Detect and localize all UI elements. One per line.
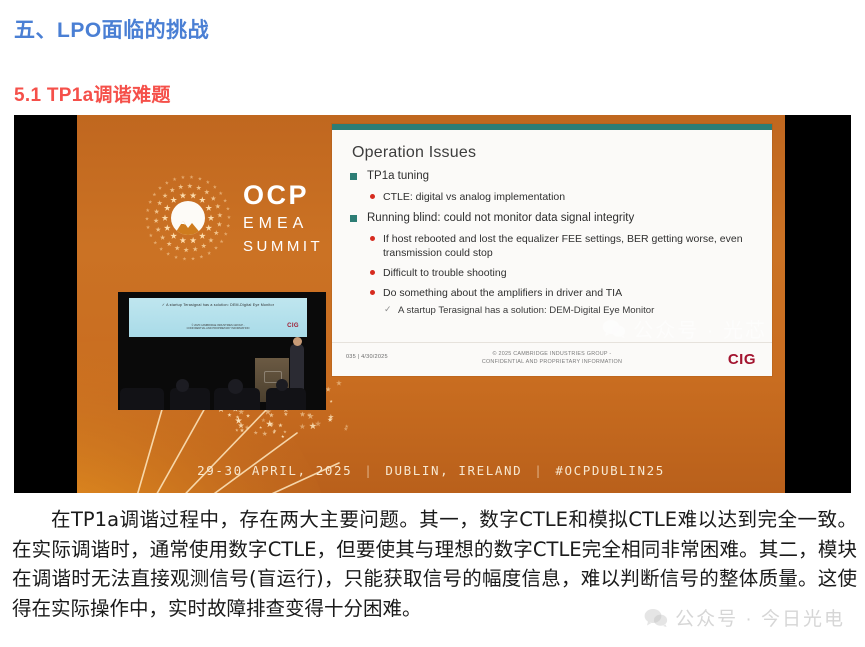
bullet-level2: Difficult to trouble shooting	[368, 266, 758, 281]
banner-separator: |	[534, 463, 543, 478]
banner-separator: |	[364, 463, 373, 478]
ocp-line2: EMEA	[243, 216, 323, 232]
projection-footer: © 2025 CAMBRIDGE INDUSTRIES GROUP - CONF…	[129, 324, 307, 330]
bullet-level3: A startup Terasignal has a solution: DEM…	[384, 304, 758, 317]
article-page: 五、LPO面临的挑战 5.1 TP1a调谐难题	[0, 0, 865, 647]
card-title: Operation Issues	[352, 144, 772, 162]
audience-head	[228, 379, 243, 394]
page-title: 五、LPO面临的挑战	[14, 14, 209, 44]
banner-hashtag: #OCPDUBLIN25	[555, 463, 665, 478]
card-footer: 035 | 4/30/2025 © 2025 CAMBRIDGE INDUSTR…	[332, 342, 772, 376]
audience-head	[276, 379, 288, 391]
projection-cig-logo: CIG	[287, 323, 299, 329]
bullet-level1: TP1a tuning	[350, 169, 758, 185]
audience-head	[176, 379, 189, 392]
bullet-level2: CTLE: digital vs analog implementation	[368, 190, 758, 205]
conference-photo: ✓ A startup Terasignal has a solution: D…	[118, 292, 326, 410]
bullet-level1: Running blind: could not monitor data si…	[350, 211, 758, 227]
audience-seat	[120, 388, 164, 410]
ocp-emblem-icon	[147, 177, 229, 259]
body-paragraph: 在TP1a调谐过程中，存在两大主要问题。其一，数字CTLE和模拟CTLE难以达到…	[12, 505, 857, 624]
subsection-title: 5.1 TP1a调谐难题	[14, 80, 171, 107]
ocp-logo: OCP EMEA SUMMIT	[147, 177, 323, 259]
ocp-wordmark: OCP EMEA SUMMIT	[243, 182, 323, 254]
cig-logo: CIG	[728, 351, 756, 368]
bullet-level2: Do something about the amplifiers in dri…	[368, 286, 758, 301]
ocp-line1: OCP	[243, 182, 323, 209]
banner-dates: 29-30 APRIL, 2025	[197, 463, 352, 478]
audience-seat	[266, 388, 306, 410]
projection-footer-line2: CONFIDENTIAL AND PROPRIETARY INFORMATION	[187, 327, 250, 330]
mountain-icon	[171, 201, 205, 235]
projection-title: ✓ A startup Terasignal has a solution: D…	[129, 303, 307, 307]
ocp-line3: SUMMIT	[243, 239, 323, 254]
audience-seat	[170, 388, 210, 410]
ocp-slide: OCP EMEA SUMMIT ✓ A startup Terasignal h…	[77, 115, 785, 493]
copyright-line2: CONFIDENTIAL AND PROPRIETARY INFORMATION	[482, 359, 622, 365]
slide-screenshot[interactable]: OCP EMEA SUMMIT ✓ A startup Terasignal h…	[14, 115, 851, 493]
slide-content-card: Operation Issues TP1a tuningCTLE: digita…	[332, 124, 772, 376]
projection-screen: ✓ A startup Terasignal has a solution: D…	[129, 298, 307, 337]
event-banner: 29-30 APRIL, 2025 | DUBLIN, IRELAND | #O…	[77, 457, 785, 483]
bullet-list: TP1a tuningCTLE: digital vs analog imple…	[350, 169, 758, 318]
bullet-level2: If host rebooted and lost the equalizer …	[368, 232, 758, 261]
copyright-line1: © 2025 CAMBRIDGE INDUSTRIES GROUP -	[493, 351, 612, 357]
banner-location: DUBLIN, IRELAND	[385, 463, 522, 478]
copyright-notice: © 2025 CAMBRIDGE INDUSTRIES GROUP - CONF…	[332, 350, 772, 366]
